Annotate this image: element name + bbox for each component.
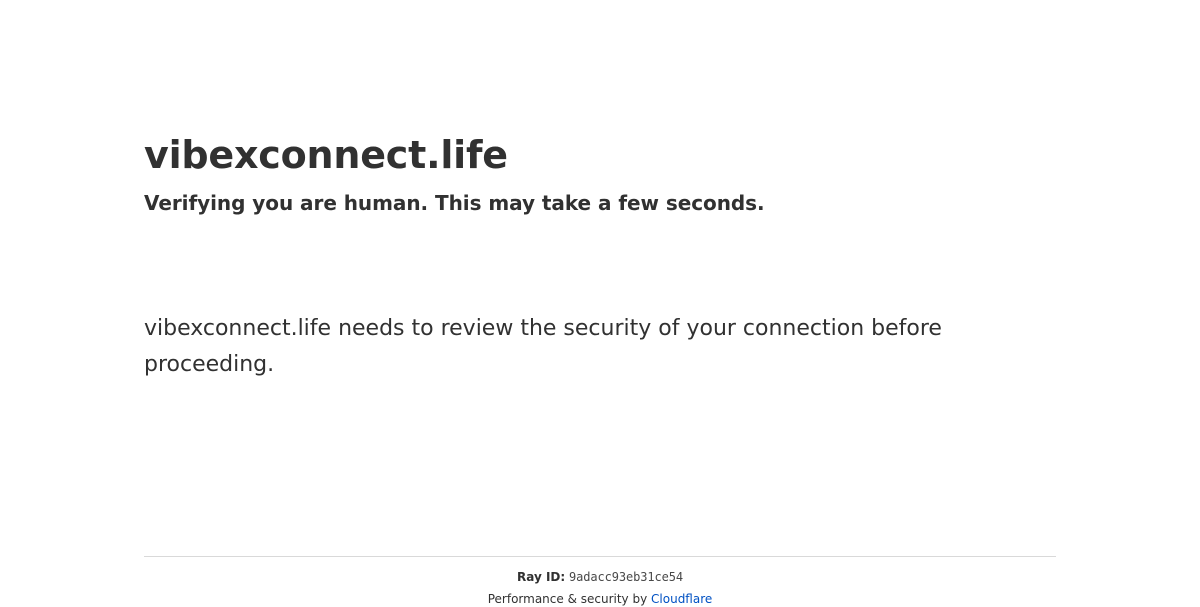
cloudflare-link[interactable]: Cloudflare (651, 592, 712, 606)
verification-status-text: Verifying you are human. This may take a… (144, 178, 1056, 217)
performance-attribution-label: Performance & security by (488, 592, 647, 606)
challenge-content: vibexconnect.life Verifying you are huma… (144, 0, 1056, 383)
ray-id-label: Ray ID: (517, 570, 565, 584)
ray-id-value: 9adacc93eb31ce54 (569, 570, 683, 584)
ray-id: Ray ID: 9adacc93eb31ce54 (144, 570, 1056, 585)
page-title: vibexconnect.life (144, 0, 1056, 178)
explanation-text: vibexconnect.life needs to review the se… (144, 311, 959, 383)
challenge-page: vibexconnect.life Verifying you are huma… (0, 0, 1200, 600)
footer: Ray ID: 9adacc93eb31ce54 Performance & s… (144, 556, 1056, 607)
challenge-widget-container[interactable] (144, 217, 444, 311)
